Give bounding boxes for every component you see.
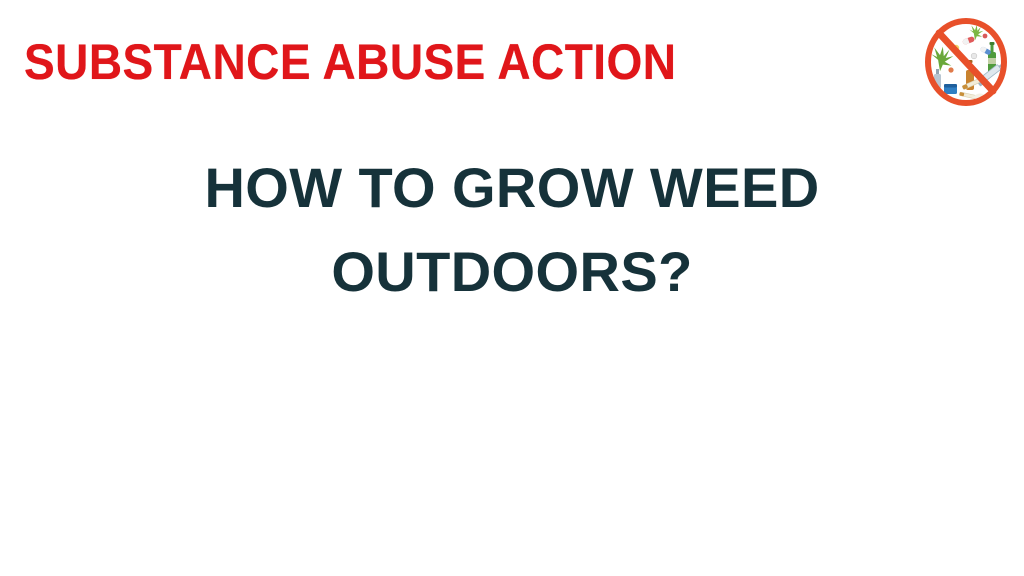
page-title-line-1: HOW TO GROW WEED xyxy=(0,146,1024,230)
no-substances-prohibition-icon xyxy=(918,12,1014,112)
brand-header: SUBSTANCE ABUSE ACTION xyxy=(0,0,1024,125)
page-title-line-2: OUTDOORS? xyxy=(0,230,1024,314)
page-title: HOW TO GROW WEED OUTDOORS? xyxy=(0,146,1024,314)
brand-wordmark: SUBSTANCE ABUSE ACTION xyxy=(24,36,676,88)
slide-canvas: SUBSTANCE ABUSE ACTION xyxy=(0,0,1024,576)
content-area-empty xyxy=(0,320,1024,576)
